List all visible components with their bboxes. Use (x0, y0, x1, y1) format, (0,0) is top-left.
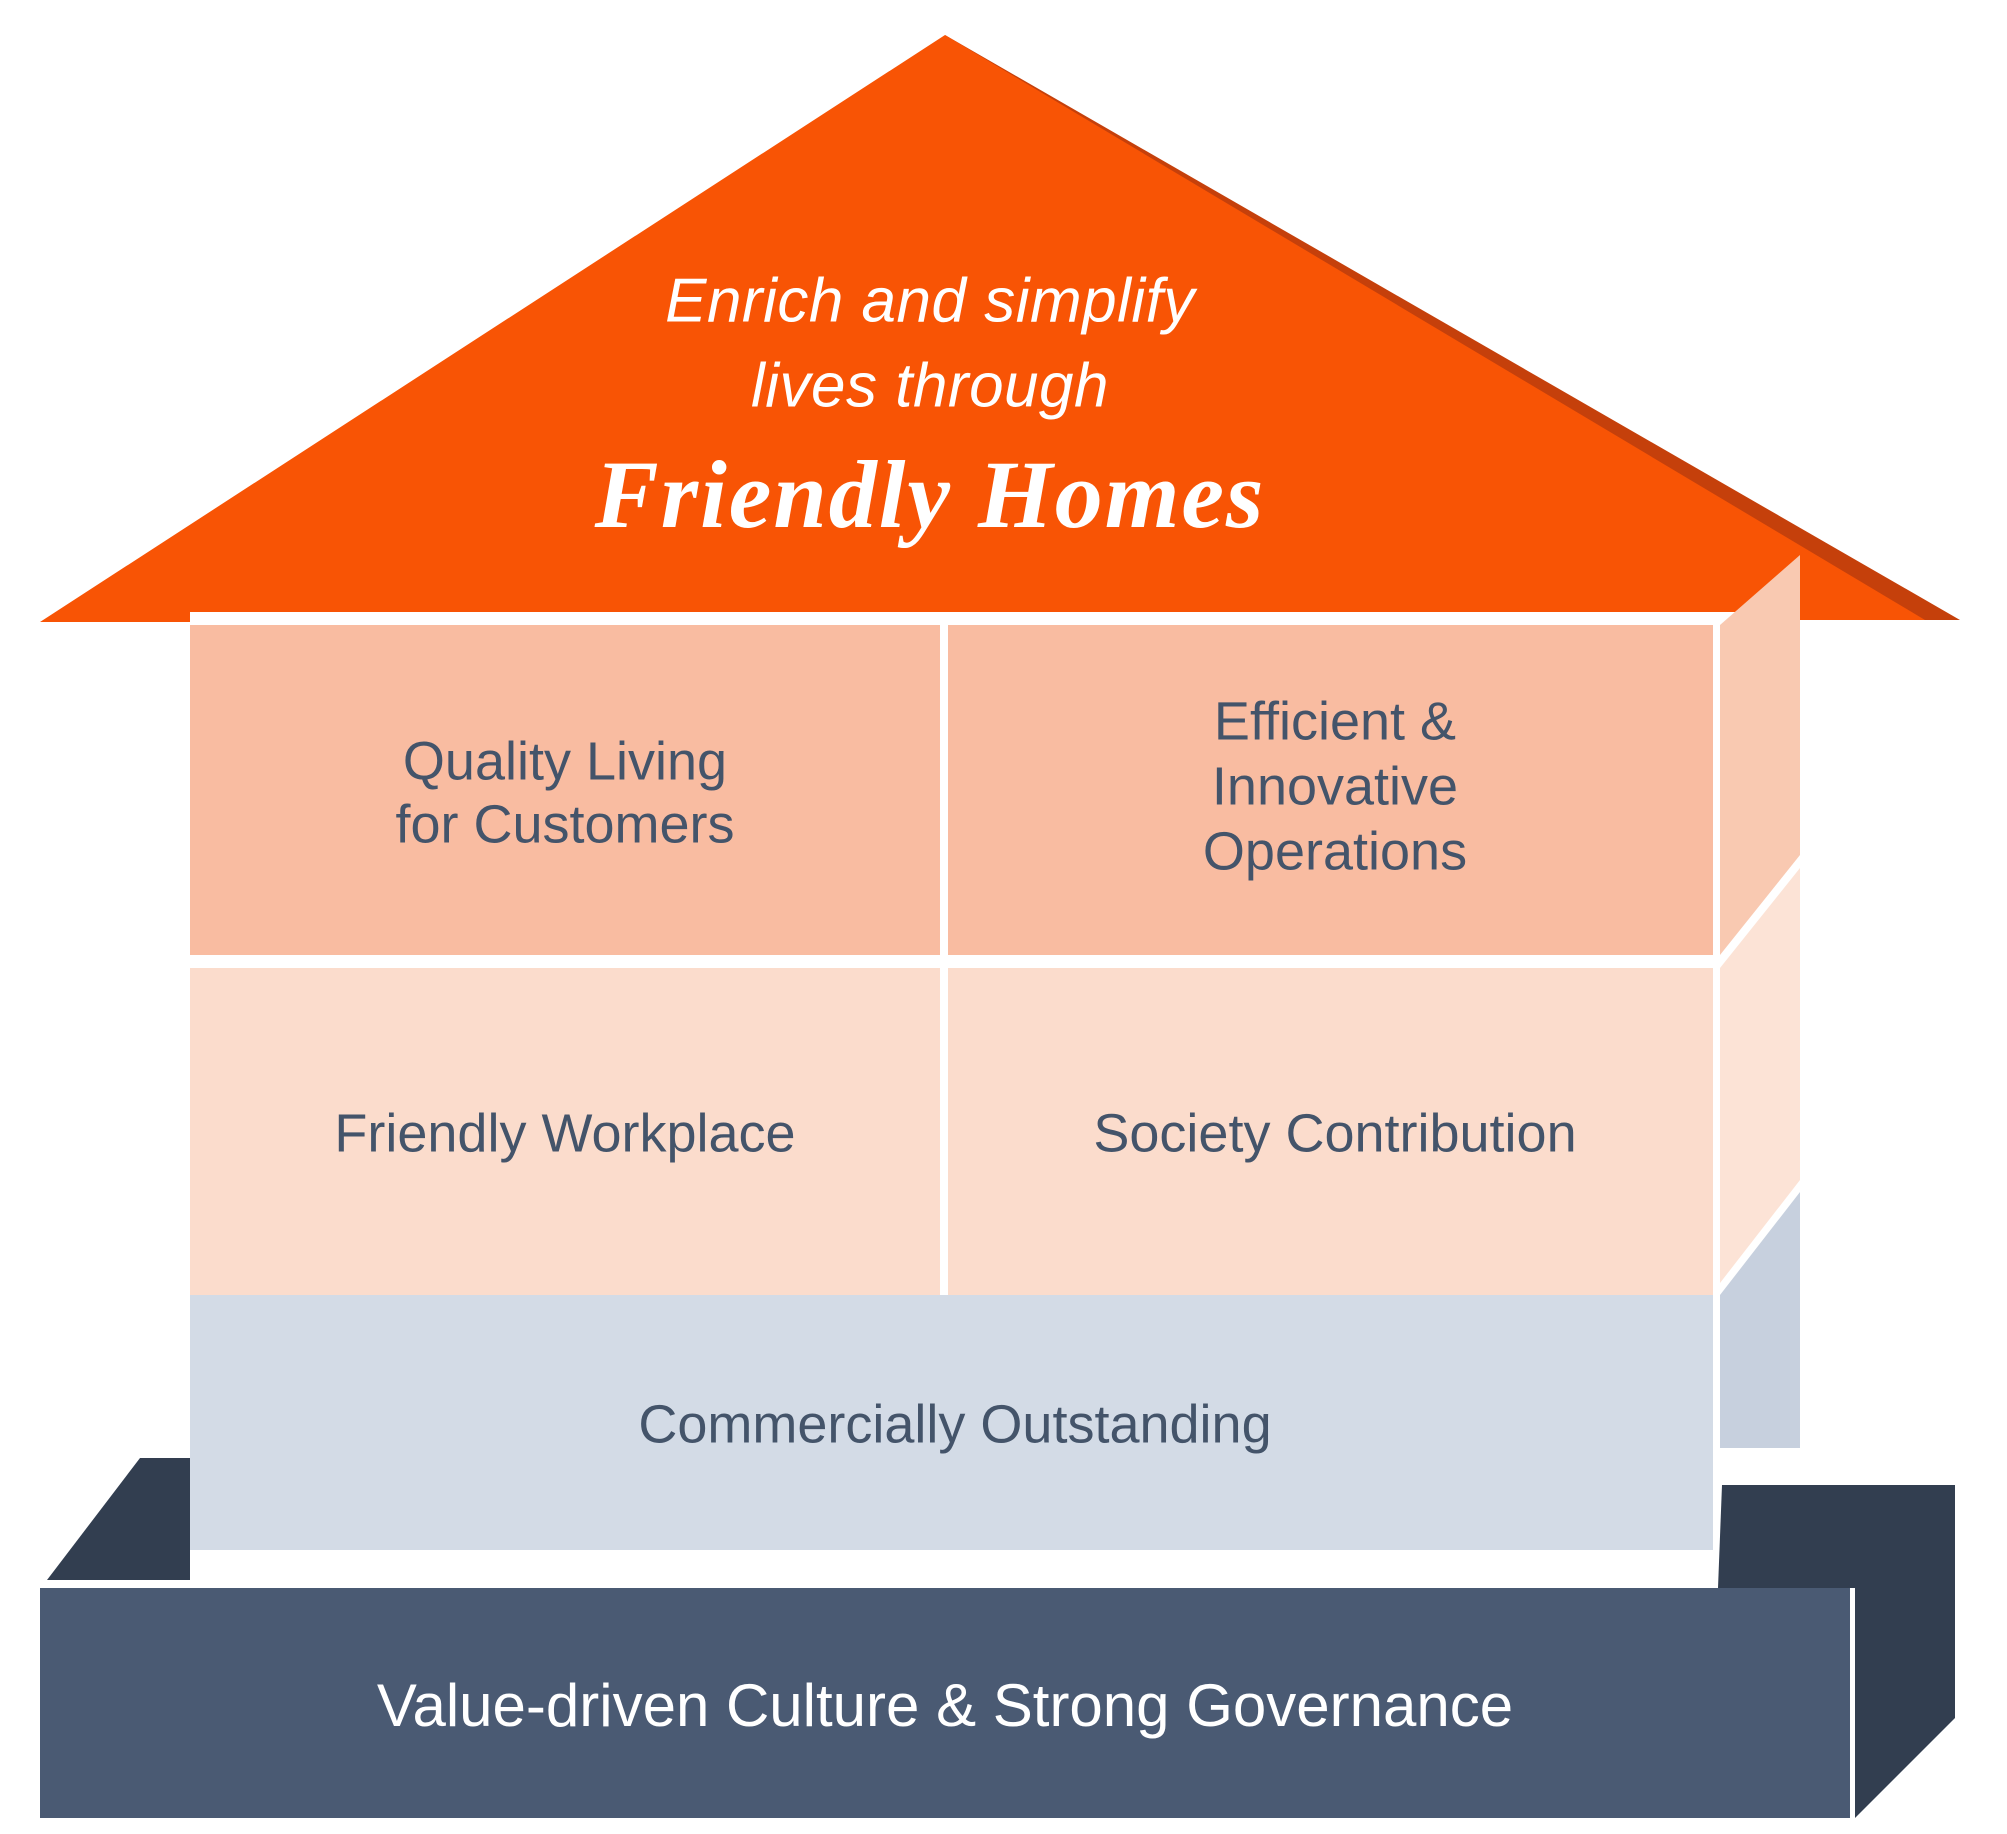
pillar-efficient-innovative-line1: Efficient & (1214, 691, 1456, 751)
roof-wordmark: Friendly Homes (594, 441, 1266, 548)
roof-tagline-line1: Enrich and simplify (665, 266, 1198, 335)
band-commercially-outstanding-label: Commercially Outstanding (638, 1394, 1271, 1454)
foundation-right-top-face (1718, 1485, 1855, 1588)
pillar-efficient-innovative-line3: Operations (1203, 821, 1467, 881)
foundation-label: Value-driven Culture & Strong Governance (377, 1672, 1513, 1739)
pillar-friendly-workplace-label: Friendly Workplace (334, 1103, 795, 1163)
pillar-quality-living-line2: for Customers (395, 794, 734, 854)
pillar-efficient-innovative-line2: Innovative (1212, 756, 1458, 816)
strategy-house-diagram: Enrich and simplify lives through Friend… (0, 0, 2007, 1834)
pillar-society-contribution-label: Society Contribution (1093, 1103, 1576, 1163)
roof-tagline-line2: lives through (751, 351, 1109, 420)
pillar-quality-living-line1: Quality Living (403, 731, 727, 791)
